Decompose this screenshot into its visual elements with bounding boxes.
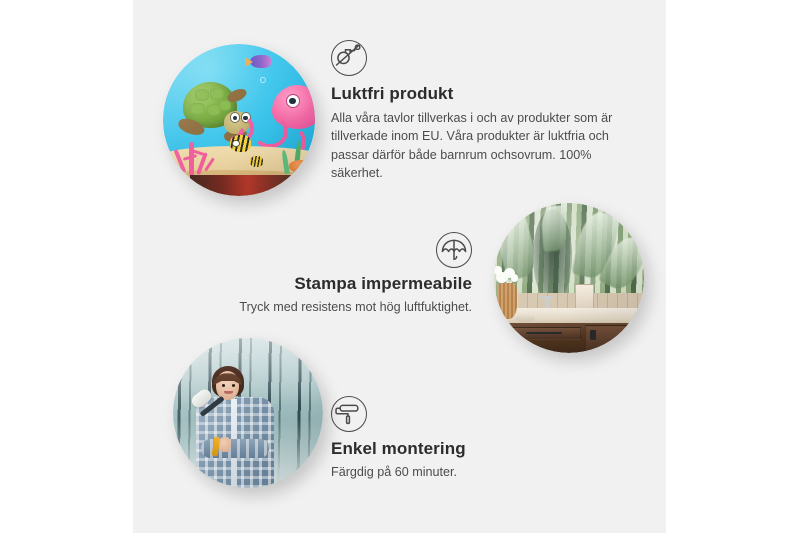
- feature-body: Färgdig på 60 minuter.: [331, 463, 581, 481]
- feature-title: Enkel montering: [331, 439, 581, 459]
- feature-body: Tryck med resistens mot hög luftfuktighe…: [212, 298, 472, 316]
- paint-roller-icon: [331, 396, 367, 432]
- underwater-cartoon-circle-image: [163, 44, 315, 196]
- umbrella-icon: [436, 232, 472, 268]
- feature-body: Alla våra tavlor tillverkas i och av pro…: [331, 109, 621, 182]
- feature-title: Stampa impermeabile: [212, 274, 472, 294]
- bathroom-botanical-wallpaper-circle-image: [494, 203, 644, 353]
- no-odour-spray-bottle-icon: [331, 40, 367, 76]
- feature-mounting: Enkel montering Färgdig på 60 minuter.: [331, 396, 581, 481]
- feature-waterproof: Stampa impermeabile Tryck med resistens …: [212, 232, 472, 316]
- woman-paint-roller-forest-circle-image: [173, 338, 323, 488]
- product-feature-infographic: Luktfri produkt Alla våra tavlor tillver…: [0, 0, 800, 533]
- feature-title: Luktfri produkt: [331, 84, 621, 104]
- feature-odourless: Luktfri produkt Alla våra tavlor tillver…: [331, 40, 621, 182]
